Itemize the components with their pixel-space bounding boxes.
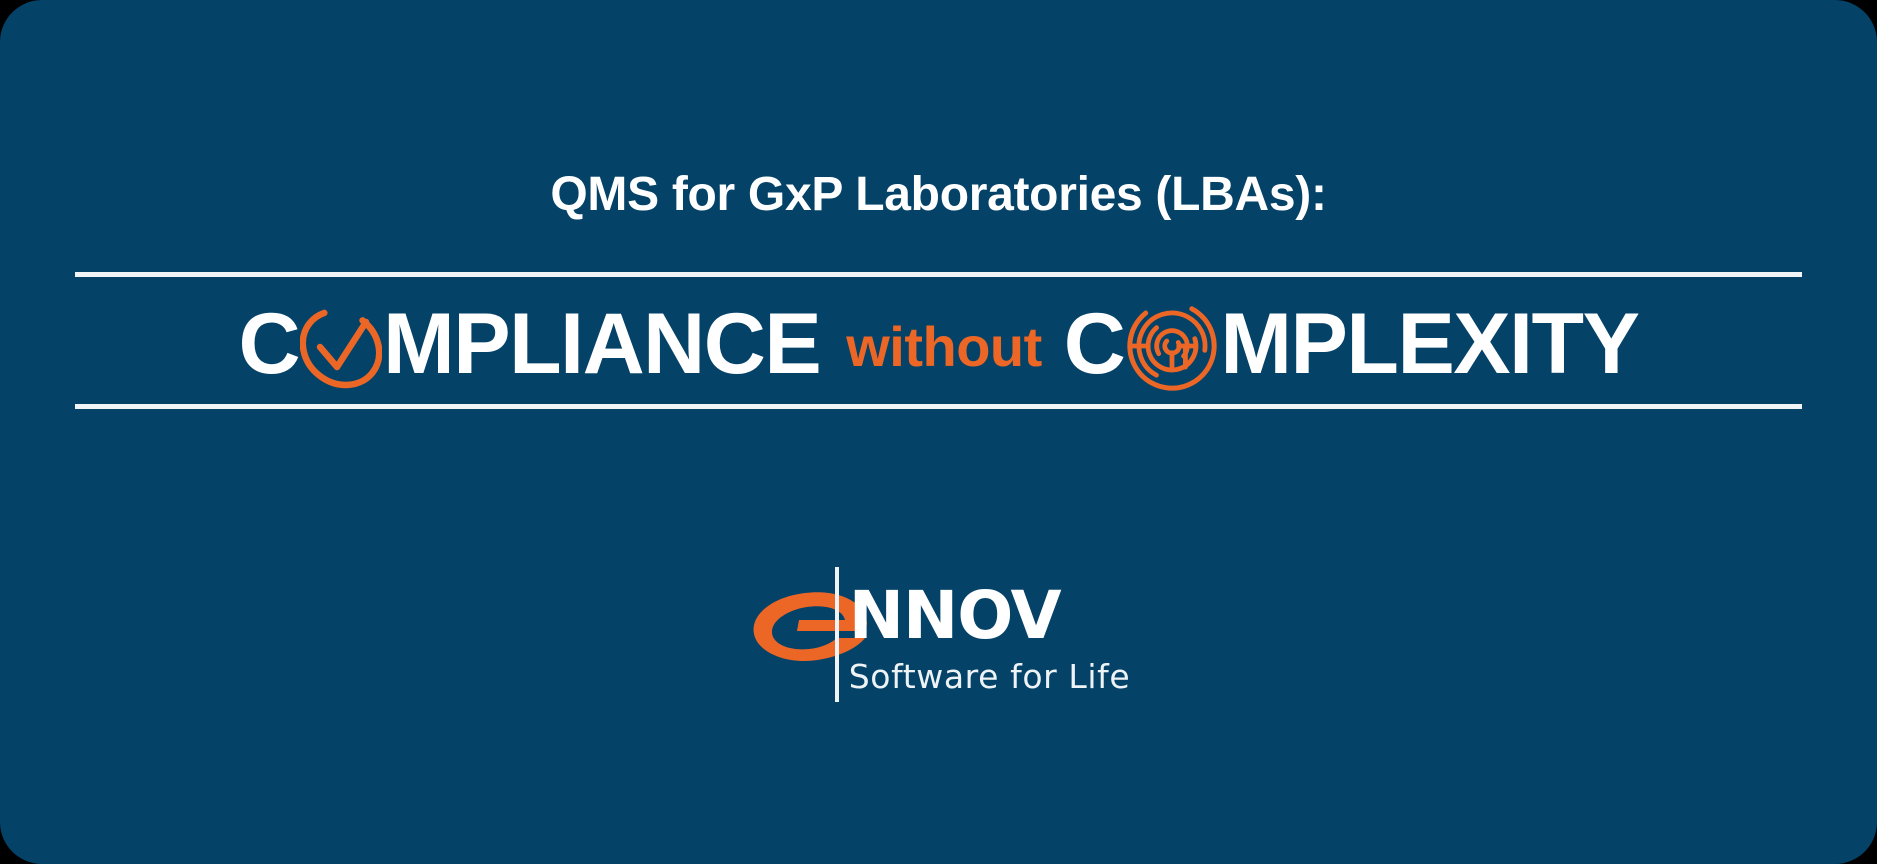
check-circle-icon bbox=[300, 300, 382, 392]
logo-wordmark: NNOV bbox=[849, 586, 1131, 647]
divider-bottom bbox=[75, 404, 1802, 409]
headline-complexity: C bbox=[1064, 296, 1639, 392]
maze-circle-icon bbox=[1126, 298, 1218, 394]
divider-top bbox=[75, 272, 1802, 277]
compliance-suffix: MPLIANCE bbox=[383, 301, 820, 387]
complexity-suffix: MPLEXITY bbox=[1220, 301, 1638, 387]
logo-divider-bar bbox=[835, 567, 839, 702]
page-title: QMS for GxP Laboratories (LBAs): bbox=[0, 167, 1877, 222]
compliance-prefix: C bbox=[239, 301, 300, 387]
headline-compliance: C MPLIANCE bbox=[239, 298, 821, 390]
headline-connector: without bbox=[820, 314, 1064, 379]
slide-canvas: QMS for GxP Laboratories (LBAs): C MPLIA… bbox=[0, 0, 1877, 864]
complexity-prefix: C bbox=[1064, 301, 1125, 387]
headline: C MPLIANCE without C bbox=[0, 288, 1877, 400]
logo-tagline: Software for Life bbox=[849, 659, 1131, 695]
brand-logo: NNOV Software for Life bbox=[0, 586, 1877, 695]
